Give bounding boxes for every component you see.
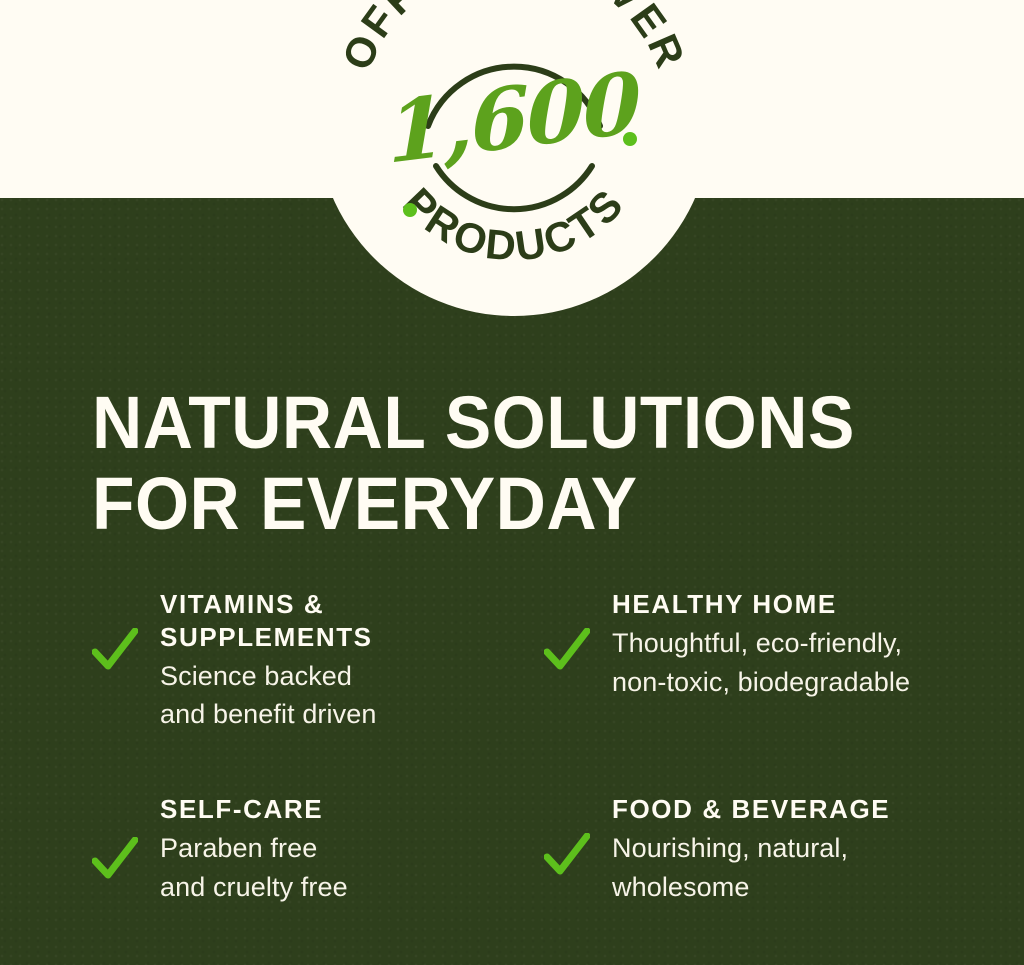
page-title: NATURAL SOLUTIONS FOR EVERYDAY [92, 382, 919, 545]
feature-item-food-beverage: FOOD & BEVERAGE Nourishing, natural, who… [544, 793, 974, 907]
check-icon [544, 628, 590, 672]
feature-description: Science backed and benefit driven [160, 657, 512, 735]
check-icon [92, 628, 138, 672]
feature-text: HEALTHY HOME Thoughtful, eco-friendly, n… [596, 588, 974, 702]
products-count-badge: OFFERING OVER PRODUCTS 1,600 [316, 0, 712, 316]
feature-description: Thoughtful, eco-friendly, non-toxic, bio… [612, 624, 974, 702]
headline-line-1: NATURAL SOLUTIONS [92, 382, 919, 463]
check-icon [92, 837, 138, 881]
feature-text: FOOD & BEVERAGE Nourishing, natural, who… [596, 793, 974, 907]
feature-item-healthy-home: HEALTHY HOME Thoughtful, eco-friendly, n… [544, 588, 974, 702]
check-wrap [544, 588, 596, 672]
feature-item-self-care: SELF-CARE Paraben free and cruelty free [92, 793, 512, 907]
feature-description: Paraben free and cruelty free [160, 829, 512, 907]
check-wrap [92, 793, 144, 881]
feature-text: VITAMINS & SUPPLEMENTS Science backed an… [144, 588, 512, 734]
feature-text: SELF-CARE Paraben free and cruelty free [144, 793, 512, 907]
badge-product-count: 1,600 [388, 60, 641, 175]
check-wrap [544, 793, 596, 877]
feature-item-vitamins-supplements: VITAMINS & SUPPLEMENTS Science backed an… [92, 588, 512, 734]
feature-title: VITAMINS & SUPPLEMENTS [160, 588, 512, 654]
feature-title: FOOD & BEVERAGE [612, 793, 974, 826]
feature-description: Nourishing, natural, wholesome [612, 829, 974, 907]
feature-title: HEALTHY HOME [612, 588, 974, 621]
feature-list: VITAMINS & SUPPLEMENTS Science backed an… [92, 588, 992, 933]
feature-title: SELF-CARE [160, 793, 512, 826]
badge-number-wrap: 1,600 [316, 0, 712, 316]
headline-line-2: FOR EVERYDAY [92, 463, 919, 544]
check-wrap [92, 588, 144, 672]
check-icon [544, 833, 590, 877]
promo-banner: OFFERING OVER PRODUCTS 1,600 NATURAL SOL… [0, 0, 1024, 965]
